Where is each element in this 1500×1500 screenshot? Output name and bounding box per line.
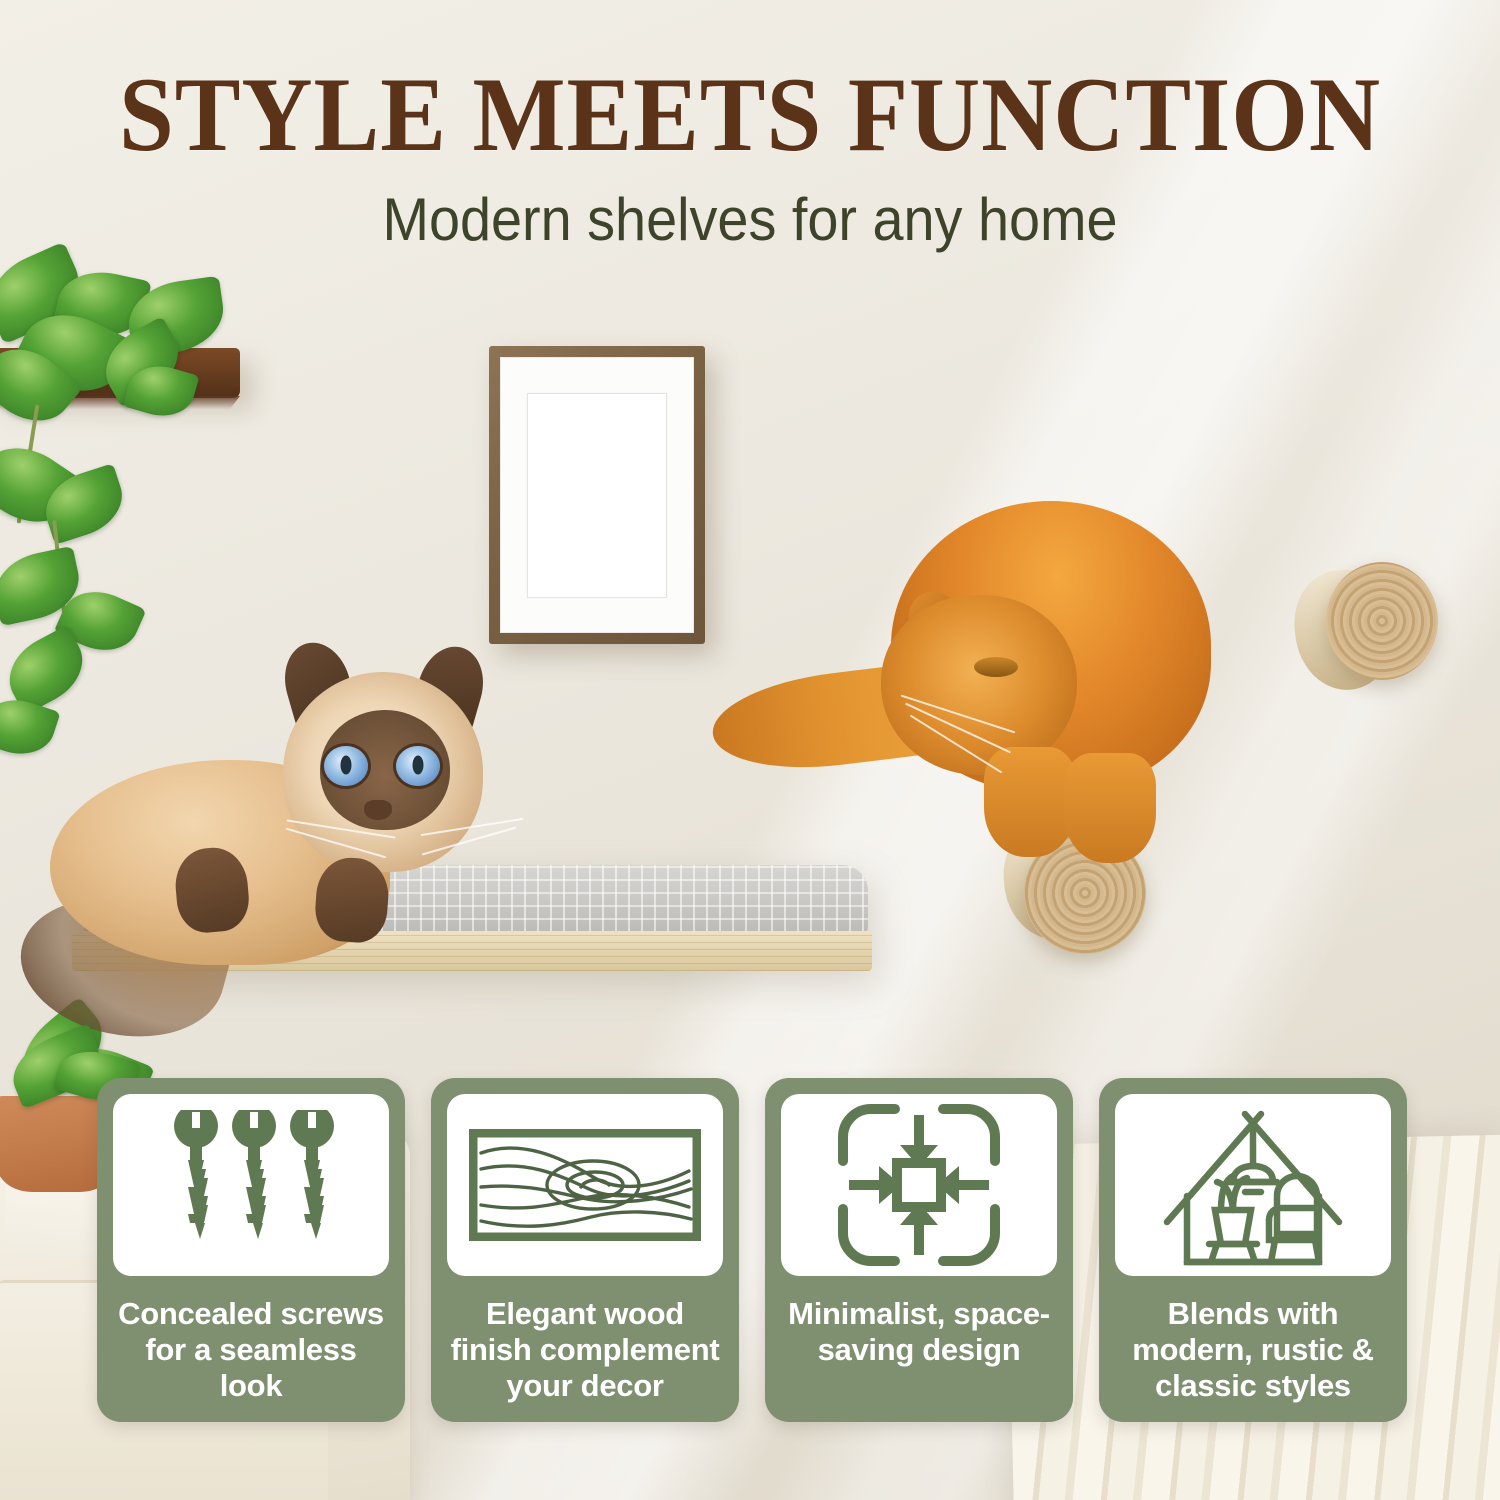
feature-icon-box [113, 1094, 389, 1276]
house-interior-icon [1157, 1104, 1349, 1266]
feature-card-style-blend[interactable]: Blends with modern, rustic & classic sty… [1099, 1078, 1407, 1422]
cat-eye-left [324, 746, 368, 786]
wood-grain-plank-icon [469, 1129, 701, 1241]
feature-label: Concealed screws for a seamless look [111, 1296, 391, 1404]
feature-label: Elegant wood finish complement your deco… [445, 1296, 725, 1404]
cat-nose [364, 800, 392, 820]
cat-foreleg-right [1064, 753, 1156, 863]
compress-arrows-square-icon [835, 1101, 1003, 1269]
page-title: STYLE MEETS FUNCTION [53, 62, 1448, 168]
frame-inner-window [527, 393, 667, 598]
feature-icon-box [781, 1094, 1057, 1276]
cat-paw-right [313, 856, 391, 945]
feature-label: Blends with modern, rustic & classic sty… [1113, 1296, 1393, 1404]
cat-foreleg-left [984, 747, 1076, 857]
feature-card-row: Concealed screws for a seamless look Ele… [97, 1078, 1407, 1422]
header: STYLE MEETS FUNCTION Modern shelves for … [0, 0, 1500, 250]
feature-label: Minimalist, space-saving design [779, 1296, 1059, 1368]
feature-icon-box [447, 1094, 723, 1276]
screws-icon [166, 1110, 336, 1260]
feature-card-concealed-screws[interactable]: Concealed screws for a seamless look [97, 1078, 405, 1422]
page-subtitle: Modern shelves for any home [53, 190, 1448, 250]
feature-icon-box [1115, 1094, 1391, 1276]
cat-eye-right [396, 746, 440, 786]
feature-card-space-saving[interactable]: Minimalist, space-saving design [765, 1078, 1073, 1422]
feature-card-wood-finish[interactable]: Elegant wood finish complement your deco… [431, 1078, 739, 1422]
ginger-cat [716, 495, 1236, 915]
picture-frame [489, 346, 705, 644]
cat-eye [974, 657, 1018, 677]
siamese-cat [28, 650, 498, 1050]
